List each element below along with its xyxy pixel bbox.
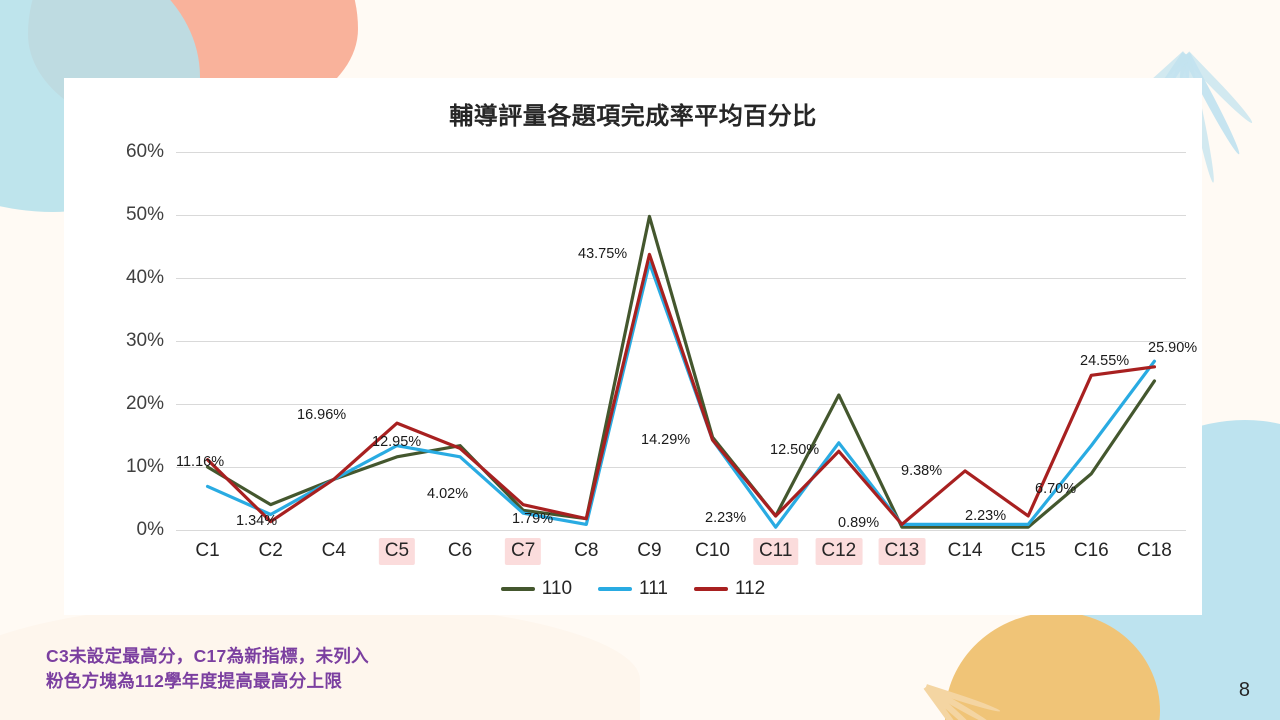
x-axis-tick-label-c12: C12 [815,538,862,565]
orange-frond-icon [920,682,1010,720]
footnote-line-2: 粉色方塊為112學年度提高最高分上限 [46,669,369,694]
legend-item-112[interactable]: 112 [694,578,765,600]
data-label: 11.16% [176,454,224,470]
series-line-111 [208,263,1155,527]
legend-label: 112 [735,578,765,600]
x-axis-tick-label-c5: C5 [379,538,415,565]
data-label: 43.75% [578,246,627,262]
series-lines [176,152,1186,530]
x-axis-tick-label-c6: C6 [442,538,478,565]
series-line-110 [208,216,1155,527]
y-axis-tick-label: 60% [126,141,164,163]
legend-item-110[interactable]: 110 [501,578,572,600]
frond-leaf [924,685,986,720]
x-axis-tick-label-c8: C8 [568,538,604,565]
data-label: 1.34% [236,513,277,529]
frond-leaf [924,685,975,720]
x-axis-tick-label-c10: C10 [689,538,736,565]
data-label: 1.79% [512,511,553,527]
x-axis-tick-label-c13: C13 [879,538,926,565]
chart-card: 輔導評量各題項完成率平均百分比 0%10%20%30%40%50%60% C1C… [64,78,1202,615]
y-axis-tick-label: 50% [126,204,164,226]
data-label: 6.70% [1035,481,1076,497]
x-axis-tick-label-c18: C18 [1131,538,1178,565]
chart-title: 輔導評量各題項完成率平均百分比 [64,96,1202,131]
series-line-112 [208,254,1155,524]
page-number: 8 [1239,679,1250,702]
legend-swatch-icon [598,587,632,591]
data-label: 2.23% [965,508,1006,524]
data-label: 9.38% [901,463,942,479]
y-axis-tick-label: 10% [126,456,164,478]
legend-swatch-icon [694,587,728,591]
x-axis-tick-label-c15: C15 [1005,538,1052,565]
x-axis-tick-label-c4: C4 [316,538,352,565]
footnote: C3未設定最高分，C17為新指標，未列入 粉色方塊為112學年度提高最高分上限 [46,644,369,695]
legend-swatch-icon [501,587,535,591]
y-axis-tick-label: 0% [137,519,164,541]
data-label: 2.23% [705,510,746,526]
x-axis-tick-label-c2: C2 [253,538,289,565]
chart-legend: 110111112 [64,578,1202,600]
x-axis-tick-label-c14: C14 [942,538,989,565]
frond-leaf [925,684,996,720]
data-label: 0.89% [838,515,879,531]
data-label: 12.50% [770,442,819,458]
y-axis-tick-label: 40% [126,267,164,289]
y-axis-tick-label: 30% [126,330,164,352]
slide-canvas: 輔導評量各題項完成率平均百分比 0%10%20%30%40%50%60% C1C… [0,0,1280,720]
plot-area: 0%10%20%30%40%50%60% C1C2C4C5C6C7C8C9C10… [176,152,1186,609]
footnote-line-1: C3未設定最高分，C17為新指標，未列入 [46,644,369,669]
gridline [176,530,1186,531]
x-axis-tick-label-c1: C1 [189,538,225,565]
data-label: 16.96% [297,407,346,423]
orange-blob-decoration [945,612,1160,720]
data-label: 4.02% [427,486,468,502]
legend-item-111[interactable]: 111 [598,578,668,600]
data-label: 24.55% [1080,353,1129,369]
legend-label: 110 [542,578,572,600]
legend-label: 111 [639,578,668,600]
data-label: 25.90% [1148,340,1197,356]
x-axis-tick-label-c16: C16 [1068,538,1115,565]
x-axis-tick-label-c11: C11 [753,538,798,565]
x-axis-tick-label-c7: C7 [505,538,541,565]
data-label: 14.29% [641,432,690,448]
plot-inner: 0%10%20%30%40%50%60% [176,152,1186,530]
x-axis-labels: C1C2C4C5C6C7C8C9C10C11C12C13C14C15C16C18 [176,538,1186,572]
x-axis-tick-label-c9: C9 [631,538,667,565]
y-axis-tick-label: 20% [126,393,164,415]
data-label: 12.95% [372,434,421,450]
frond-leaf [925,684,1001,714]
